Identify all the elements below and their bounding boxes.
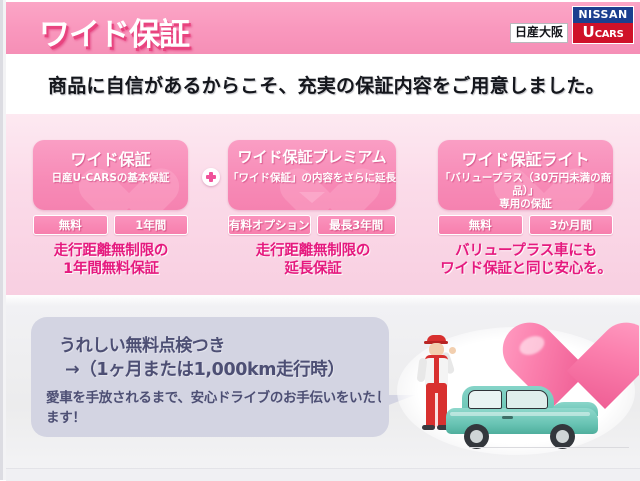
headline-section: 商品に自信があるからこそ、充実の保証内容をご用意しました。 <box>6 54 640 114</box>
plan-tags-wide: 無料 1年間 <box>33 215 188 235</box>
car-wheel-front <box>550 424 575 449</box>
chevron-down-icon <box>299 192 325 203</box>
staff-uniform-stripe <box>434 357 439 385</box>
plan-benefit-premium-line1: 走行距離無制限の <box>218 242 408 260</box>
inspection-section: うれしい無料点検つき →（1ヶ月または1,000km走行時） 愛車を手放されるま… <box>6 295 640 480</box>
plan-subtitle-light: 「バリュープラス（30万円未満の商品）」 専用の保証 <box>438 172 613 210</box>
advertisement-page: ワイド保証 日産大阪 NISSAN UCARS 商品に自信があるからこそ、充実の… <box>0 0 640 480</box>
car-door-handle <box>502 416 513 419</box>
plan-title-light: ワイド保証ライト <box>438 146 613 170</box>
nissan-ucars-logo: NISSAN UCARS <box>572 6 634 44</box>
plan-subtitle-wide: 日産U-CARSの基本保証 <box>33 172 188 185</box>
ucars-logo-text: UCARS <box>572 23 634 44</box>
ground-line <box>469 447 629 448</box>
nissan-logo-text: NISSAN <box>572 6 634 23</box>
plan-tags-light: 無料 3か月間 <box>438 215 613 235</box>
plan-tag-price-light: 無料 <box>438 215 523 235</box>
inspection-headline: うれしい無料点検つき <box>59 331 225 356</box>
inspection-note: 愛車を手放されるまで、安心ドライブのお手伝いをいたします！ <box>46 389 396 428</box>
page-title: ワイド保証 <box>39 9 189 54</box>
car-illustration <box>446 386 598 444</box>
plan-benefit-premium-line2: 延長保証 <box>218 260 408 278</box>
plan-benefit-light-line2: ワイド保証と同じ安心を。 <box>428 260 624 278</box>
plan-benefit-premium: 走行距離無制限の 延長保証 <box>218 242 408 278</box>
plan-benefit-wide: 走行距離無制限の 1年間無料保証 <box>20 242 202 278</box>
headline-text: 商品に自信があるからこそ、充実の保証内容をご用意しました。 <box>48 71 605 98</box>
plan-tag-price-premium: 有料オプション <box>228 215 311 235</box>
speech-bubble: うれしい無料点検つき →（1ヶ月または1,000km走行時） 愛車を手放されるま… <box>31 317 389 437</box>
car-body-highlight <box>450 412 590 416</box>
plan-benefit-light-line1: バリュープラス車にも <box>428 242 624 260</box>
plan-subtitle-premium: 「ワイド保証」の内容をさらに延長 <box>228 172 396 185</box>
plan-title-wide: ワイド保証 <box>33 146 188 170</box>
car-wheel-rear <box>464 424 489 449</box>
plan-benefit-light: バリュープラス車にも ワイド保証と同じ安心を。 <box>428 242 624 278</box>
ucars-u: U <box>583 23 595 41</box>
plan-tag-price-wide: 無料 <box>33 215 108 235</box>
plan-subtitle-light-line2: 専用の保証 <box>438 198 613 210</box>
header-banner: ワイド保証 日産大阪 NISSAN UCARS <box>6 2 640 54</box>
plan-tag-duration-wide: 1年間 <box>114 215 189 235</box>
plan-subtitle-light-line1: 「バリュープラス（30万円未満の商品）」 <box>438 172 613 198</box>
plan-tag-duration-premium: 最長3年間 <box>317 215 397 235</box>
plan-card-wide[interactable]: ワイド保証 日産U-CARSの基本保証 <box>33 140 188 210</box>
ucars-cars: CARS <box>595 29 624 40</box>
staff-shoe-left <box>422 425 435 430</box>
plans-section: ワイド保証 日産U-CARSの基本保証 無料 1年間 走行距離無制限の 1年間無… <box>6 114 640 295</box>
car-window-rear <box>468 390 502 409</box>
page-inner: ワイド保証 日産大阪 NISSAN UCARS 商品に自信があるからこそ、充実の… <box>6 0 640 480</box>
plan-benefit-wide-line2: 1年間無料保証 <box>20 260 202 278</box>
dealer-name-badge: 日産大阪 <box>510 23 568 42</box>
footer-strip <box>6 468 640 481</box>
inspection-timing: →（1ヶ月または1,000km走行時） <box>65 356 344 381</box>
plus-icon <box>202 168 220 186</box>
plan-tags-premium: 有料オプション 最長3年間 <box>228 215 396 235</box>
plan-row: ワイド保証 日産U-CARSの基本保証 無料 1年間 走行距離無制限の 1年間無… <box>6 114 640 295</box>
brand-lockup: 日産大阪 NISSAN UCARS <box>510 6 634 44</box>
staff-leg-divider <box>435 393 438 427</box>
illustration <box>391 307 639 472</box>
plan-benefit-wide-line1: 走行距離無制限の <box>20 242 202 260</box>
plan-card-light[interactable]: ワイド保証ライト 「バリュープラス（30万円未満の商品）」 専用の保証 <box>438 140 613 210</box>
plan-tag-duration-light: 3か月間 <box>529 215 614 235</box>
staff-hand <box>449 347 456 354</box>
car-window-front <box>506 390 548 409</box>
plan-card-premium[interactable]: ワイド保証プレミアム 「ワイド保証」の内容をさらに延長 <box>228 140 396 210</box>
plan-title-premium: ワイド保証プレミアム <box>228 146 396 167</box>
